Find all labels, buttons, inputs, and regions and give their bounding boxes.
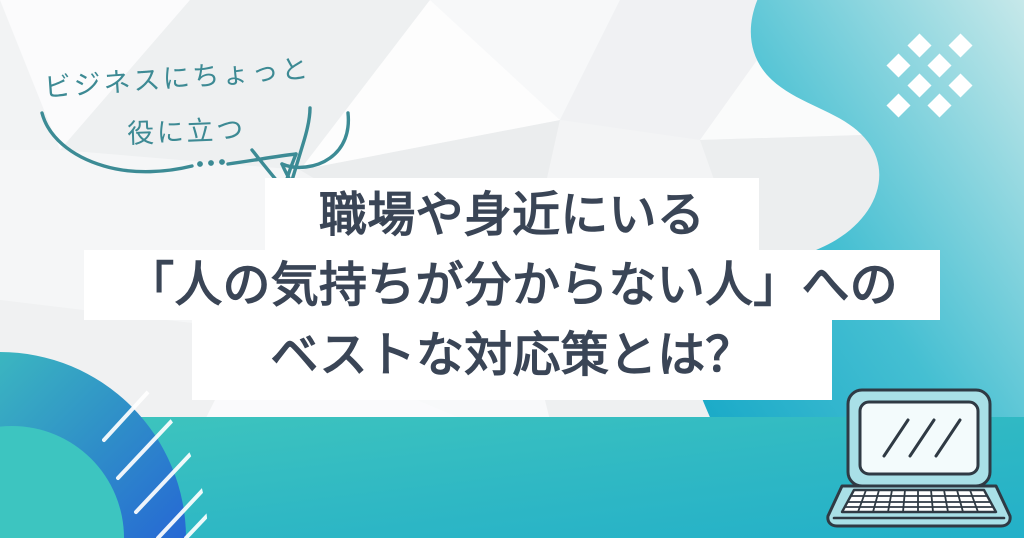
title-line-2: 「人の気持ちが分からない人」への [84,250,940,320]
laptop-illustration [824,386,1014,534]
title-line-3: ベストな対応策とは？ [192,320,831,400]
page-title: 職場や身近にいる 「人の気持ちが分からない人」への ベストな対応策とは？ [0,178,1024,400]
eyebrow-line-2: 役に立つ [126,107,246,151]
banner-canvas: ビジネスにちょっと 役に立つ 職場や身近にいる 「人の気持ちが分からない人」への… [0,0,1024,538]
title-line-1: 職場や身近にいる [265,178,759,250]
speech-bubble-dots [197,159,225,167]
